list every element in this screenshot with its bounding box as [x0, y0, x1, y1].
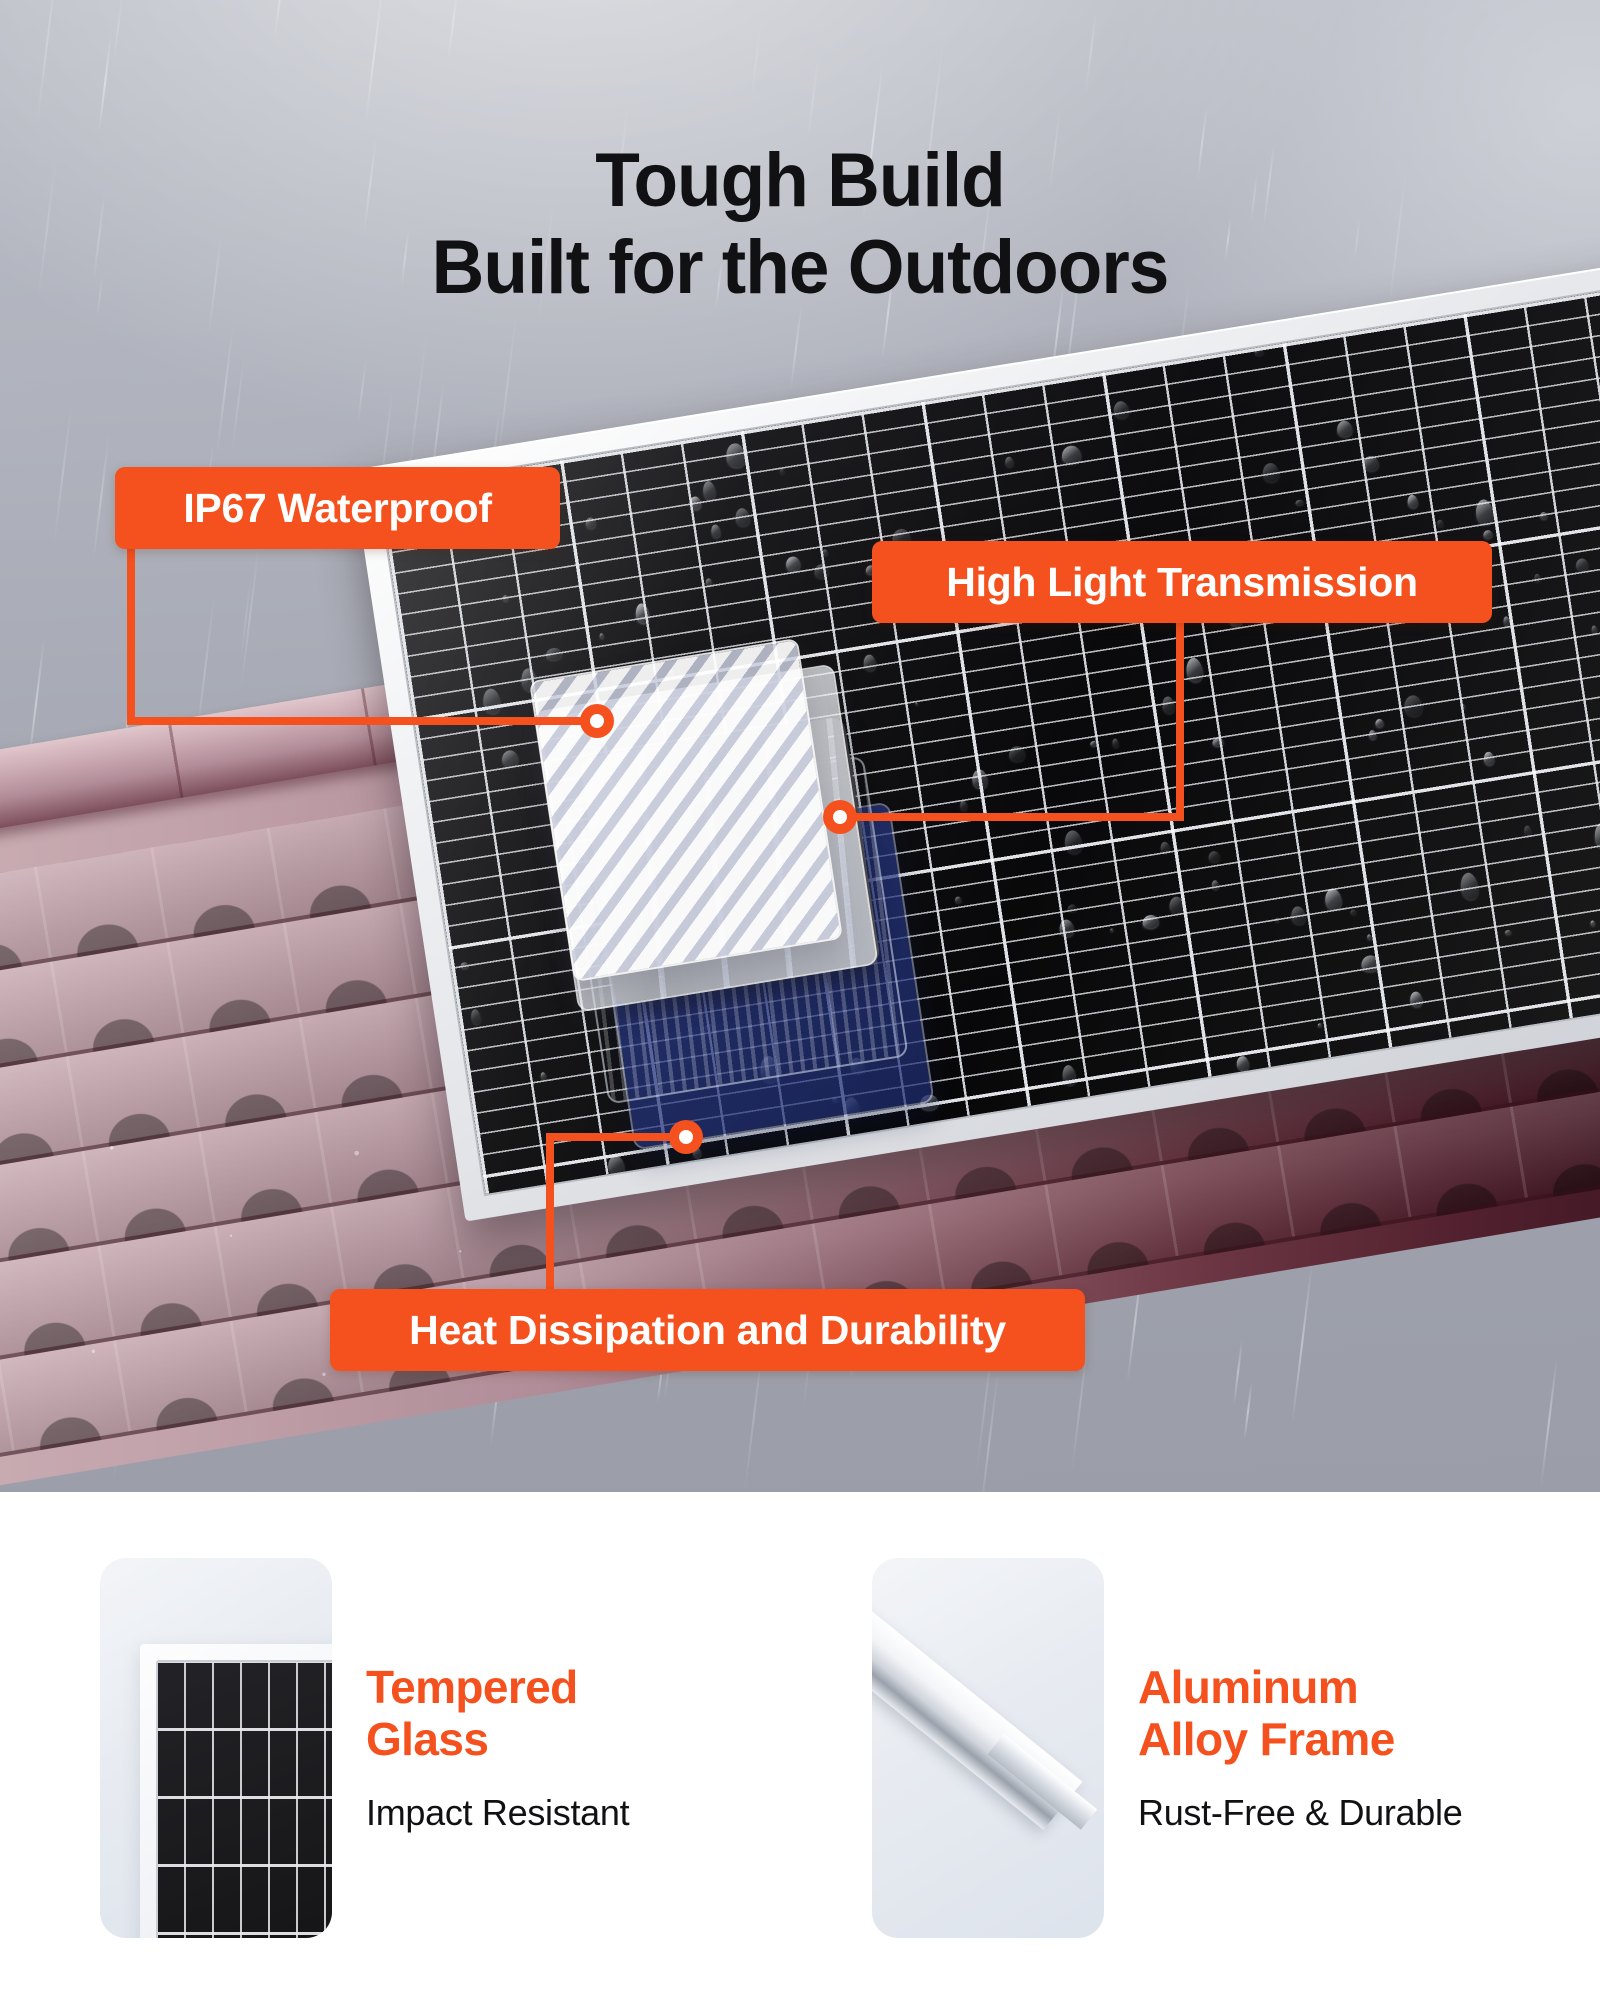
leader-dot-ip67 — [580, 704, 614, 738]
leader-heat-vertical — [546, 1133, 554, 1291]
leader-dot-light — [823, 800, 857, 834]
feature-thumbnail-tempered-glass — [100, 1558, 332, 1938]
leader-ip67-horizontal — [127, 717, 595, 725]
callout-badge-heat-dissipation[interactable]: Heat Dissipation and Durability — [330, 1289, 1085, 1371]
feature-title: Aluminum Alloy Frame — [1138, 1662, 1468, 1765]
title-line-2: Built for the Outdoors — [32, 225, 1568, 312]
callout-badge-high-light-transmission[interactable]: High Light Transmission — [872, 541, 1492, 623]
leader-ip67-vertical — [127, 549, 135, 723]
feature-text-aluminum-frame: Aluminum Alloy Frame Rust-Free & Durable — [1138, 1662, 1468, 1833]
layer-tempered-glass — [531, 640, 840, 979]
title-line-1: Tough Build — [595, 138, 1005, 223]
leader-light-vertical — [1176, 623, 1184, 821]
feature-subtitle: Rust-Free & Durable — [1138, 1792, 1468, 1834]
page-title: Tough Build Built for the Outdoors — [32, 138, 1568, 311]
callout-badge-ip67-waterproof[interactable]: IP67 Waterproof — [115, 467, 560, 549]
panel-corner-cells — [156, 1660, 332, 1938]
feature-thumbnail-aluminum-frame — [872, 1558, 1104, 1938]
feature-title: Tempered Glass — [366, 1662, 696, 1765]
feature-text-tempered-glass: Tempered Glass Impact Resistant — [366, 1662, 696, 1833]
features-section: Tempered Glass Impact Resistant Aluminum… — [0, 1492, 1600, 2000]
leader-light-horizontal — [838, 813, 1184, 821]
hero-section: Tough Build Built for the Outdoors IP67 … — [0, 0, 1600, 1492]
leader-dot-heat — [669, 1120, 703, 1154]
leader-heat-horizontal — [546, 1133, 688, 1141]
feature-card-tempered-glass[interactable]: Tempered Glass Impact Resistant — [100, 1558, 696, 1938]
feature-card-aluminum-alloy-frame[interactable]: Aluminum Alloy Frame Rust-Free & Durable — [872, 1558, 1468, 1938]
panel-corner-illustration — [140, 1644, 332, 1938]
aluminum-frame-illustration — [872, 1558, 1104, 1938]
feature-subtitle: Impact Resistant — [366, 1792, 696, 1834]
